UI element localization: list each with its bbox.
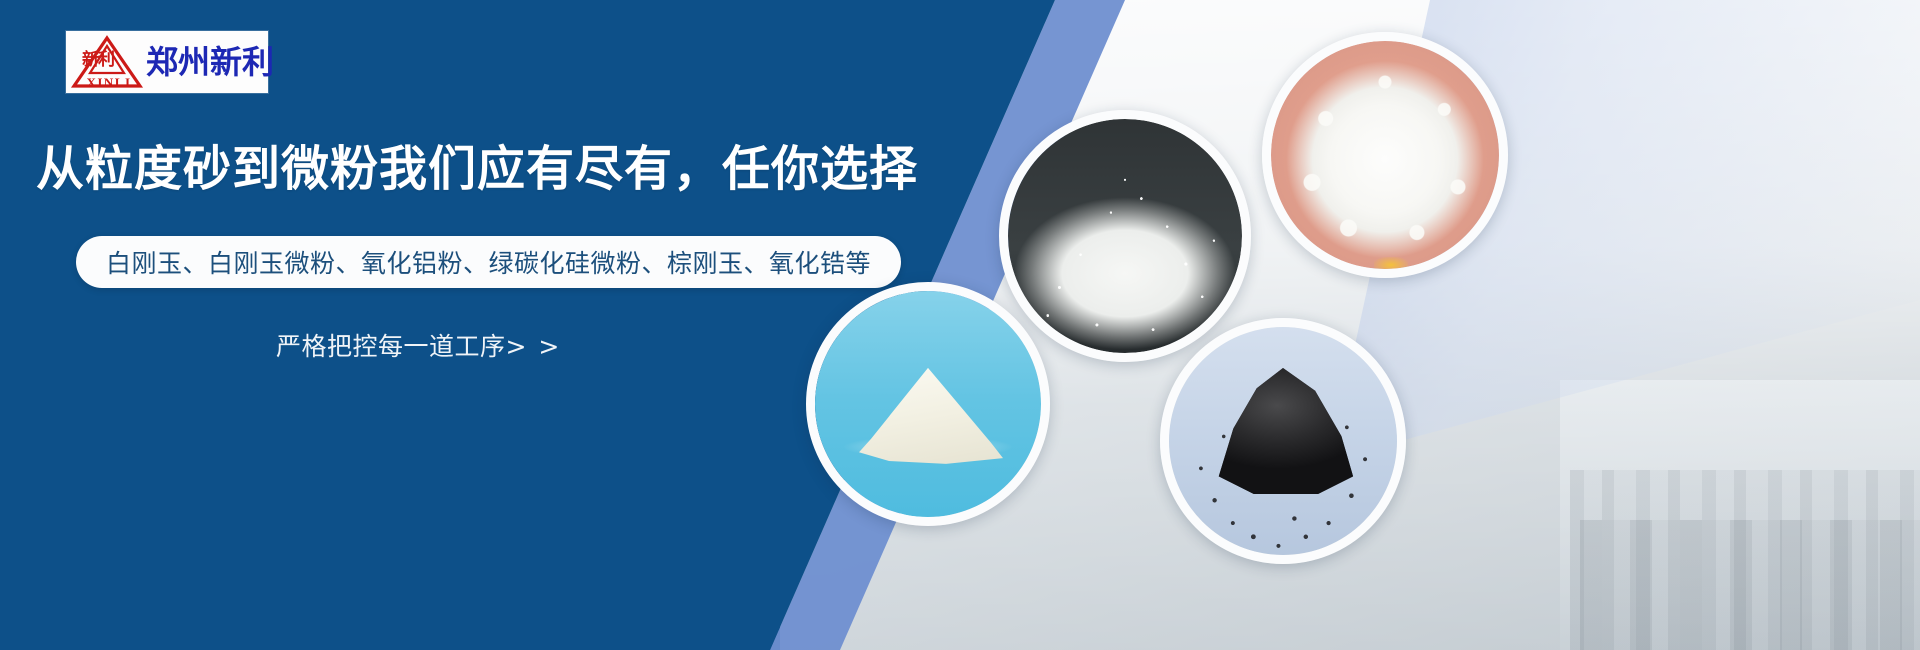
product-photo-inner [815, 291, 1041, 517]
page-title: 从粒度砂到微粉我们应有尽有，任你选择 [36, 141, 918, 198]
powder-lump-texture [1271, 41, 1499, 269]
grain-scatter-texture [1008, 119, 1242, 353]
product-photo-inner [1271, 41, 1499, 269]
product-list-pill[interactable]: 白刚玉、白刚玉微粉、氧化铝粉、绿碳化硅微粉、棕刚玉、氧化锆等 [76, 236, 901, 288]
logo-wordmark: 郑州新利 [146, 46, 274, 78]
tagline-text: 严格把控每一道工序 [276, 332, 506, 361]
yellow-glint [1374, 257, 1408, 269]
promo-banner: 新利 XINLI 郑州新利 从粒度砂到微粉我们应有尽有，任你选择 白刚玉、白刚玉… [0, 0, 1920, 650]
product-photo-white-grain-on-black[interactable] [999, 110, 1251, 362]
product-photo-inner [1169, 327, 1397, 555]
product-photo-white-powder-on-pink-plate[interactable] [1262, 32, 1508, 278]
triangle-logo-icon: 新利 XINLI [70, 33, 144, 91]
process-quality-cta[interactable]: 严格把控每一道工序> > [276, 327, 561, 363]
product-list-text: 白刚玉、白刚玉微粉、氧化铝粉、绿碳化硅微粉、棕刚玉、氧化锆等 [106, 244, 871, 280]
chevron-right-icon: > > [506, 332, 562, 361]
company-logo[interactable]: 新利 XINLI 郑州新利 [66, 31, 268, 93]
product-photo-white-cone-on-sky[interactable] [806, 282, 1050, 526]
powder-cone-shape [853, 368, 1003, 464]
grain-scatter-texture [1169, 327, 1397, 555]
logo-mark-en-label: XINLI [76, 75, 142, 91]
product-photo-black-grain-cone[interactable] [1160, 318, 1406, 564]
logo-mark-cn-label: 新利 [82, 52, 136, 69]
product-photo-inner [1008, 119, 1242, 353]
factory-skyline-foreground [1580, 520, 1920, 650]
